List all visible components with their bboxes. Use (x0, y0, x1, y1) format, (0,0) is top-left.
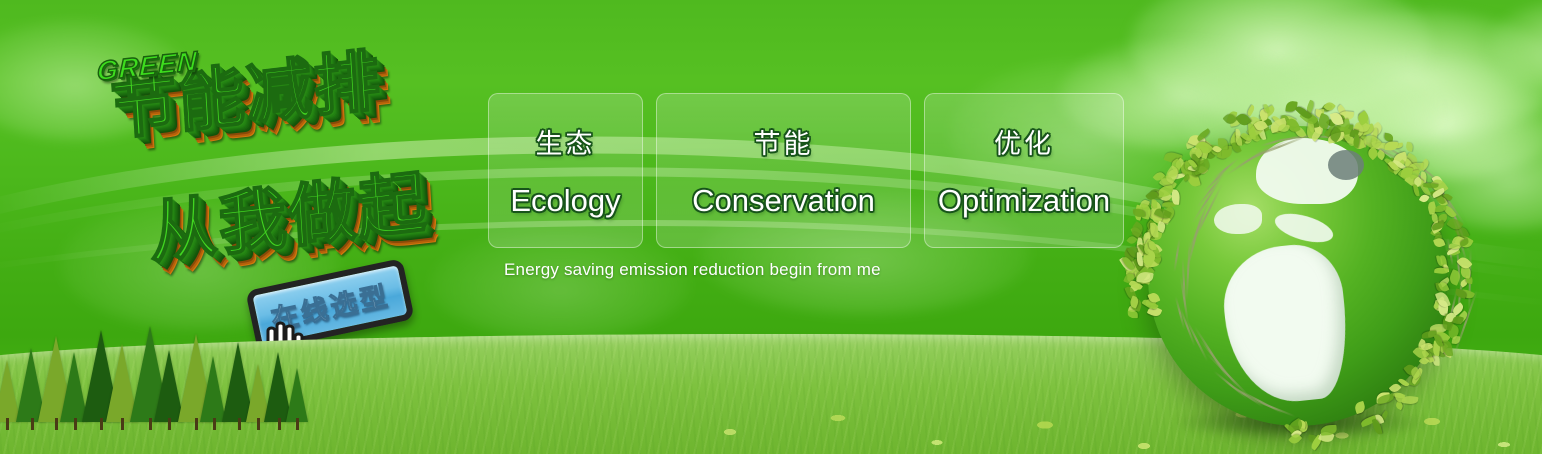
feature-card-ecology-en: Ecology (510, 183, 620, 219)
feature-card-list: 生态 Ecology 节能 Conservation 优化 Optimizati… (488, 93, 1124, 248)
feature-card-ecology[interactable]: 生态 Ecology (488, 93, 643, 248)
tagline: Energy saving emission reduction begin f… (504, 260, 881, 280)
eco-hero-banner: 节能减排 GREEN 从我做起 在线选型 生态 Ecology 节能 Conse… (0, 0, 1542, 454)
feature-card-conservation-en: Conservation (692, 183, 875, 219)
feature-card-optimization-cn: 优化 (994, 122, 1054, 161)
feature-card-conservation-cn: 节能 (754, 122, 814, 161)
online-selection-cta[interactable]: 在线选型 (250, 272, 430, 382)
distant-treeline-center (570, 374, 1130, 408)
feature-card-conservation[interactable]: 节能 Conservation (656, 93, 911, 248)
headline-art: 节能减排 GREEN 从我做起 (96, 36, 486, 271)
feature-card-ecology-cn: 生态 (536, 122, 596, 161)
feature-card-optimization[interactable]: 优化 Optimization (924, 93, 1124, 248)
headline-line-2: 从我做起 (146, 146, 430, 277)
hand-pointer-icon (250, 317, 312, 387)
leafy-globe-icon (1148, 126, 1448, 426)
feature-card-optimization-en: Optimization (938, 183, 1110, 219)
